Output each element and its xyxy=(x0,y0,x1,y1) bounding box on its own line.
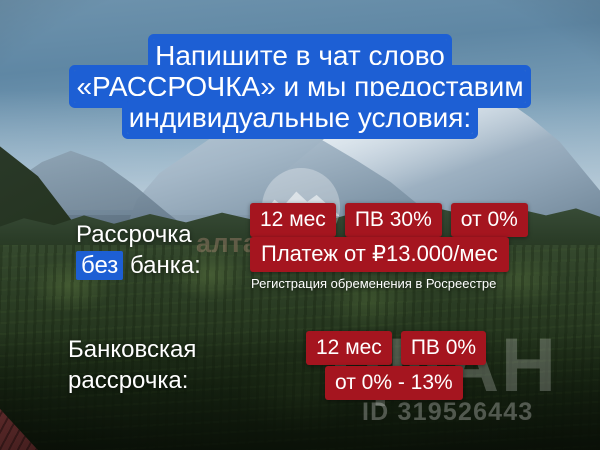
offer-1-fineprint: Регистрация обременения в Росреестре xyxy=(251,277,496,290)
headline-line-2: «РАССРОЧКА» и мы предоставим xyxy=(74,70,525,103)
badge-term: 12 мес xyxy=(306,331,392,365)
headline-row-2: «РАССРОЧКА» и мы предоставим xyxy=(0,73,600,101)
badge-monthly-payment: Платеж от ₽13.000/мес xyxy=(250,237,509,272)
offer-2-label: Банковская рассрочка: xyxy=(68,334,196,396)
badge-rate-range: от 0% - 13% xyxy=(325,366,463,400)
badge-rate: от 0% xyxy=(451,203,528,237)
offer-2-badges-row-2: от 0% - 13% xyxy=(325,366,463,400)
offer-2-label-line-1: Банковская xyxy=(68,334,196,365)
headline-row-3: индивидуальные условия: xyxy=(0,104,600,132)
badge-downpayment: ПВ 30% xyxy=(345,203,442,237)
offer-2-label-line-2: рассрочка: xyxy=(68,365,196,396)
badge-term: 12 мес xyxy=(250,203,336,237)
offer-1-badges-row-2: Платеж от ₽13.000/мес xyxy=(250,237,509,272)
headline-line-3: индивидуальные условия: xyxy=(127,101,473,134)
offer-1-badges-row-1: 12 мес ПВ 30% от 0% xyxy=(250,203,528,237)
badge-downpayment: ПВ 0% xyxy=(401,331,486,365)
listing-id-watermark: ID 319526443 xyxy=(362,398,533,427)
offer-2-badges-row-1: 12 мес ПВ 0% xyxy=(306,331,486,365)
headline-line-1: Напишите в чат слово xyxy=(153,39,447,72)
headline-row-1: Напишите в чат слово xyxy=(0,42,600,70)
headline: Напишите в чат слово «РАССРОЧКА» и мы пр… xyxy=(0,42,600,135)
offer-1-label-line-2: без банка: xyxy=(76,250,201,281)
advertisement-poster: алтайский ЦИАН ID 319526443 Напишите в ч… xyxy=(0,0,600,450)
offer-1-label: Рассрочка без банка: xyxy=(76,219,201,281)
offer-1-label-line-1: Рассрочка xyxy=(76,219,201,250)
offer-1-highlight-word: без xyxy=(76,251,123,280)
